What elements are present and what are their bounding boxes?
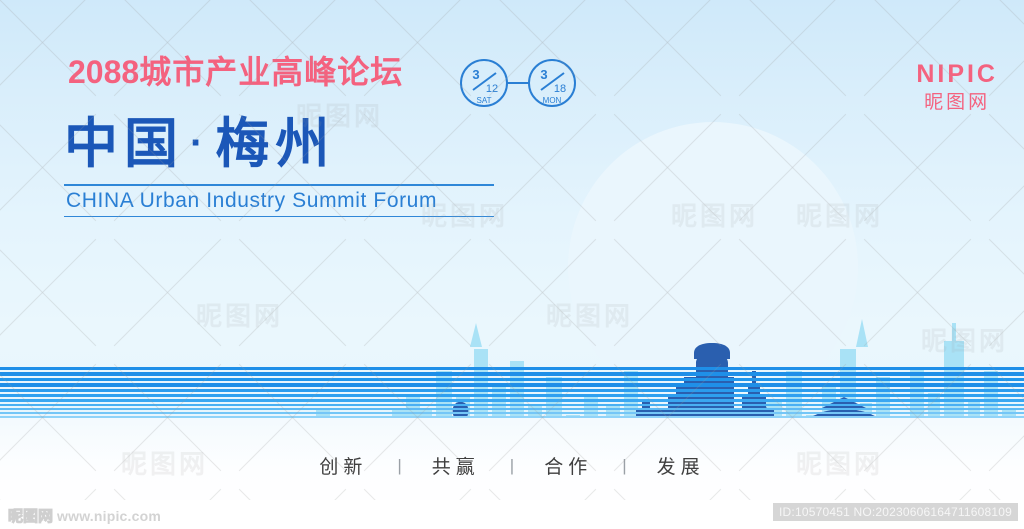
slogan-bar: 创新 | 共赢 | 合作 | 发展 xyxy=(0,452,1024,479)
stripe-band xyxy=(0,367,1024,425)
nipic-logo-cn: 昵图网 xyxy=(916,91,998,116)
poster-banner: 2088城市产业高峰论坛 中国·梅州 CHINA Urban Industry … xyxy=(0,0,1024,529)
start-day: 12 xyxy=(486,83,498,95)
start-weekday: SAT xyxy=(477,96,492,105)
page-title: 2088城市产业高峰论坛 xyxy=(68,56,403,88)
start-month: 3 xyxy=(472,67,479,82)
end-day: 18 xyxy=(554,83,566,95)
date-badges: 3 12 SAT 3 18 MON xyxy=(459,58,579,108)
slogan-item-3: 发展 xyxy=(627,452,735,479)
footer-brand-cn: 昵图网 xyxy=(8,505,53,526)
footer-brand: 昵图网 www.nipic.com xyxy=(8,505,161,526)
slogan-item-0: 创新 xyxy=(289,452,397,479)
footer-bar: 昵图网 www.nipic.com ID:10570451 NO:2023060… xyxy=(0,500,1024,529)
end-month: 3 xyxy=(540,67,547,82)
city-title: 中国·梅州 xyxy=(64,116,335,173)
subtitle-rule-bottom xyxy=(64,216,494,218)
city-title-separator: · xyxy=(184,121,215,165)
headline-rest: 城市产业高峰论坛 xyxy=(139,54,403,90)
city-title-country: 中国 xyxy=(64,114,184,174)
nipic-logo-en: NIPIC xyxy=(916,60,998,89)
end-weekday: MON xyxy=(543,96,562,105)
headline-year: 2088 xyxy=(68,54,139,90)
footer-meta: ID:10570451 NO:20230606164711608109 xyxy=(773,503,1018,521)
nipic-logo: NIPIC 昵图网 xyxy=(916,60,998,115)
subtitle-text: CHINA Urban Industry Summit Forum xyxy=(64,186,494,216)
slogan-item-2: 合作 xyxy=(514,452,622,479)
subtitle-block: CHINA Urban Industry Summit Forum xyxy=(64,184,494,217)
slogan-item-1: 共赢 xyxy=(402,452,510,479)
footer-brand-url: www.nipic.com xyxy=(57,508,161,524)
city-title-city: 梅州 xyxy=(215,114,335,174)
